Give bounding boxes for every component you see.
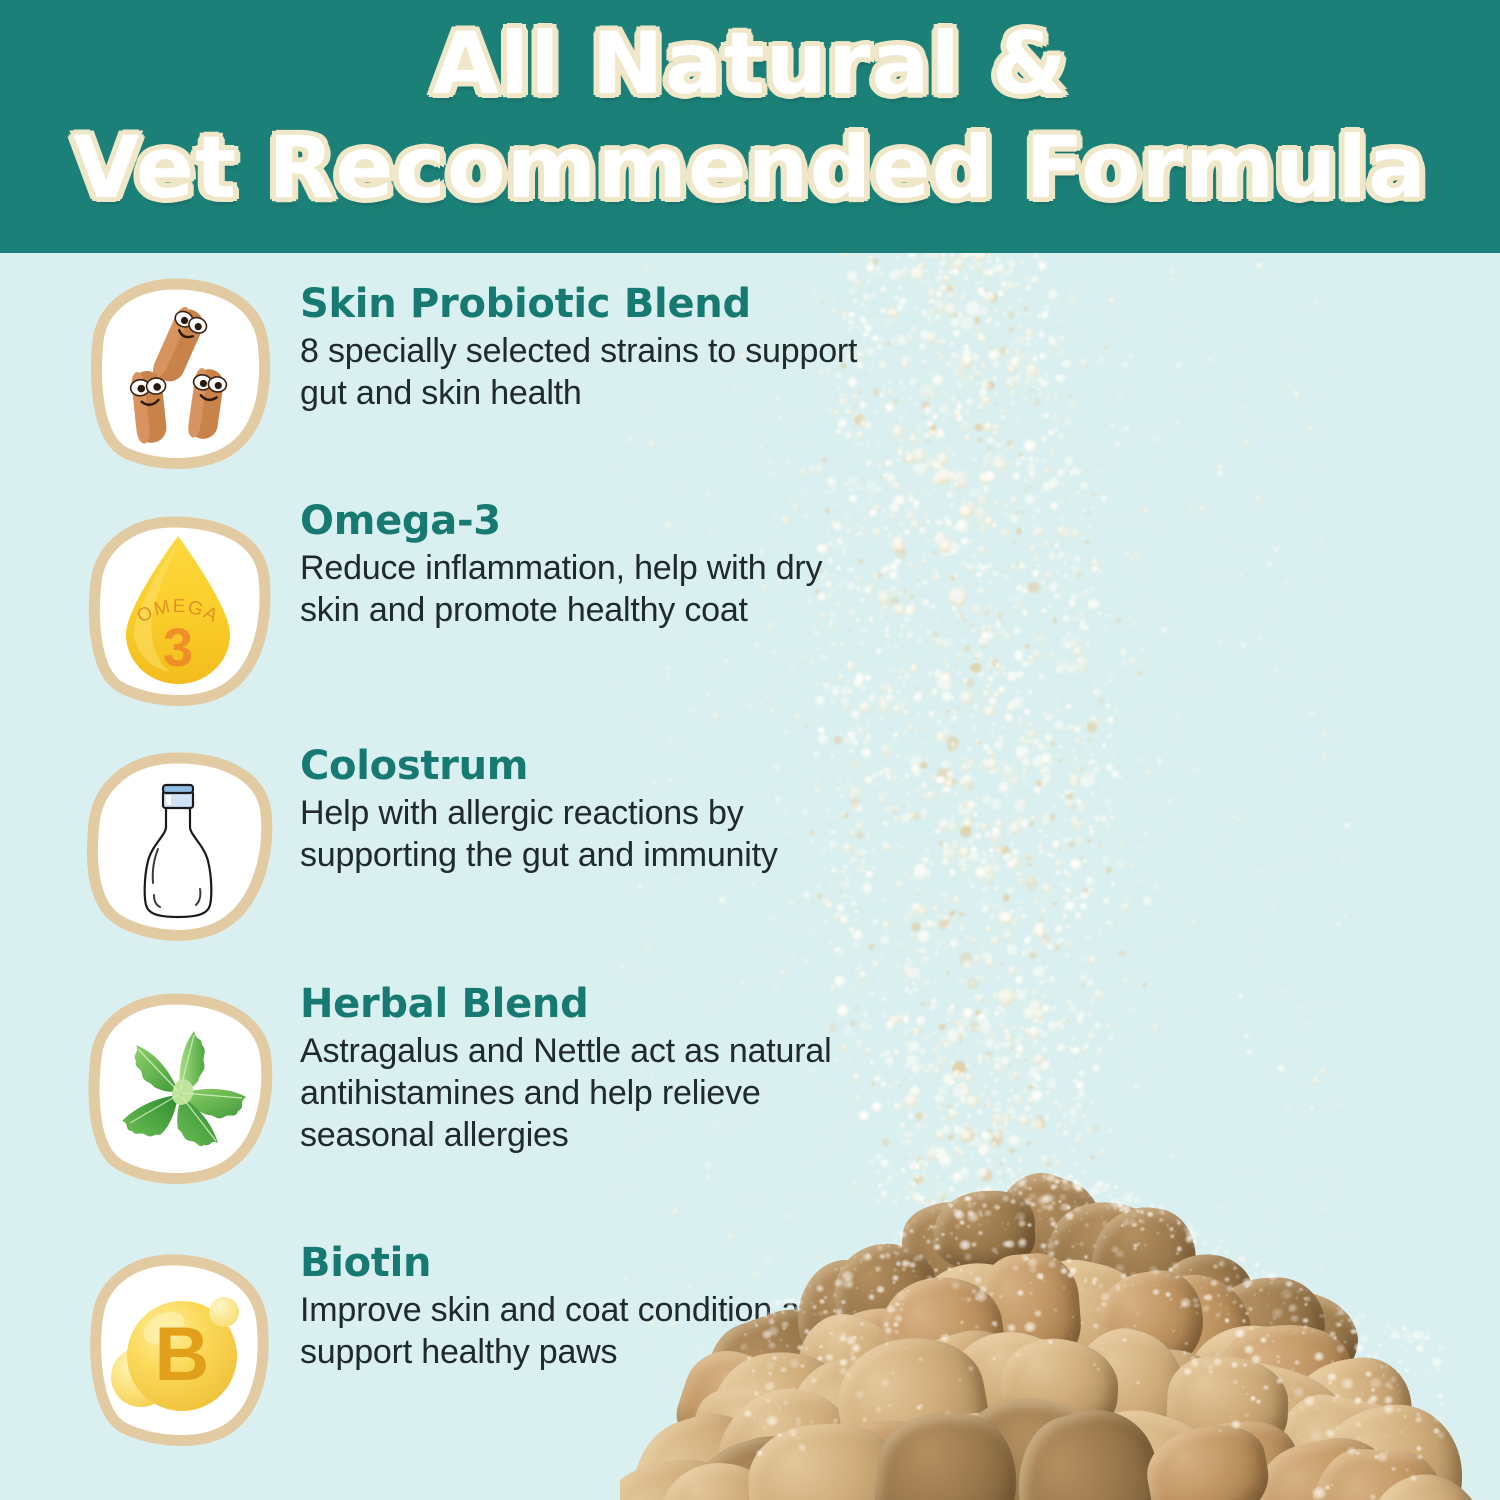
headline-line-2: Vet Recommended Formula <box>0 120 1500 216</box>
feature-heading: Colostrum <box>300 743 860 789</box>
headline-line-1: All Natural & <box>0 16 1500 112</box>
feature-description: 8 specially selected strains to support … <box>300 330 860 414</box>
svg-text:3: 3 <box>163 618 193 678</box>
biotin-capsule-icon: B <box>78 1252 278 1448</box>
feature-heading: Omega-3 <box>300 498 860 544</box>
feature-description: Reduce inflammation, help with dry skin … <box>300 547 860 631</box>
probiotic-bacteria-icon <box>78 275 278 471</box>
feature-text-block: Skin Probiotic Blend 8 specially selecte… <box>300 281 860 414</box>
milk-bottle-icon <box>78 749 278 945</box>
feature-heading: Skin Probiotic Blend <box>300 281 860 327</box>
feature-heading: Herbal Blend <box>300 981 860 1027</box>
svg-text:B: B <box>155 1312 210 1397</box>
feature-text-block: Herbal Blend Astragalus and Nettle act a… <box>300 981 860 1156</box>
feature-description: Astragalus and Nettle act as natural ant… <box>300 1030 860 1156</box>
header-banner: All Natural & Vet Recommended Formula <box>0 0 1500 253</box>
herb-leaves-icon <box>78 991 278 1187</box>
feature-description: Help with allergic reactions by supporti… <box>300 792 860 876</box>
omega-3-oil-drop-icon: OMEGA 3 <box>78 512 278 708</box>
feature-text-block: Colostrum Help with allergic reactions b… <box>300 743 860 876</box>
feature-text-block: Omega-3 Reduce inflammation, help with d… <box>300 498 860 631</box>
feature-heading: Biotin <box>300 1240 860 1286</box>
feature-list: Skin Probiotic Blend 8 specially selecte… <box>0 253 880 1500</box>
